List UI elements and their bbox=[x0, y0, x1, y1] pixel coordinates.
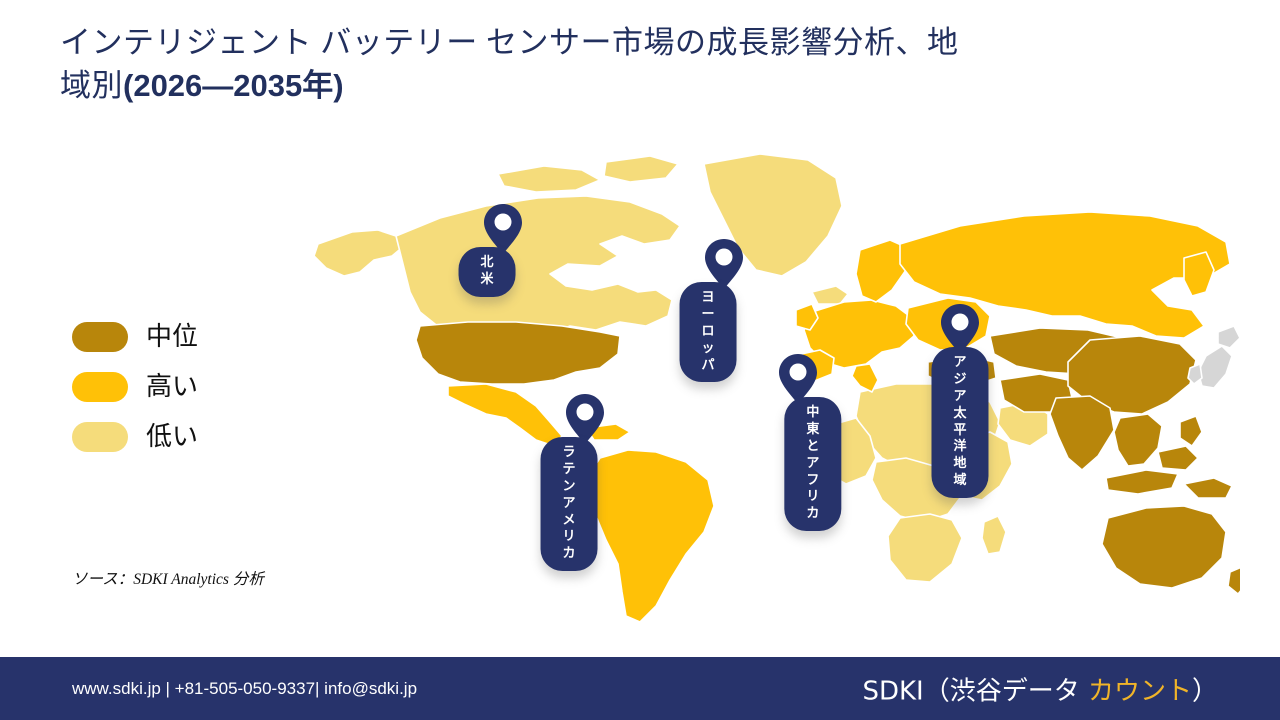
legend-label-low: 低い bbox=[146, 424, 198, 450]
region-iceland bbox=[812, 286, 848, 304]
footer-brand-accent: カウント bbox=[1088, 676, 1192, 706]
page-title-line2-plain: 域別 bbox=[60, 68, 123, 103]
world-map: 北米 ヨーロッパ アジア太平洋 地域 ラテンアメリカ 中東 とアフリカ bbox=[300, 140, 1240, 640]
region-australia[interactable] bbox=[1102, 506, 1226, 588]
region-new-guinea bbox=[1184, 478, 1232, 498]
page-title: インテリジェント バッテリー センサー市場の成長影響分析、地 域別(2026—2… bbox=[60, 22, 1200, 108]
region-southeast-asia[interactable] bbox=[1114, 414, 1162, 466]
footer-contact-info[interactable]: www.sdki.jp | +81-505-050-9337| info@sdk… bbox=[72, 679, 417, 699]
footer-brand-suffix: ） bbox=[1192, 676, 1218, 706]
map-pin-label-europe[interactable]: ヨーロッパ bbox=[680, 282, 737, 382]
legend-label-medium: 中位 bbox=[146, 324, 198, 350]
source-note: ソース：SDKI Analytics 分析 bbox=[72, 567, 264, 589]
map-pin-label-asia-pacific[interactable]: アジア太平洋 地域 bbox=[931, 347, 988, 498]
region-indonesia-2 bbox=[1158, 446, 1198, 470]
legend-swatch-high bbox=[72, 372, 128, 402]
region-alaska[interactable] bbox=[314, 230, 404, 276]
region-canada[interactable] bbox=[396, 196, 680, 338]
region-canada-arctic-1 bbox=[498, 166, 600, 192]
region-japan[interactable] bbox=[1198, 346, 1232, 388]
world-map-svg bbox=[300, 140, 1240, 640]
legend-swatch-low bbox=[72, 422, 128, 452]
region-madagascar bbox=[982, 516, 1006, 554]
region-usa[interactable] bbox=[416, 322, 620, 384]
region-mexico[interactable] bbox=[448, 384, 562, 446]
legend: 中位 高い 低い bbox=[72, 312, 282, 462]
region-philippines bbox=[1180, 416, 1202, 446]
region-japan-north bbox=[1218, 326, 1240, 348]
region-indonesia-1[interactable] bbox=[1106, 470, 1178, 494]
legend-item-medium[interactable]: 中位 bbox=[72, 312, 282, 362]
region-india[interactable] bbox=[1050, 396, 1114, 470]
map-pin-label-latin-america[interactable]: ラテンアメリカ bbox=[541, 437, 598, 571]
region-new-zealand bbox=[1228, 566, 1240, 594]
legend-swatch-medium bbox=[72, 322, 128, 352]
region-kamchatka bbox=[1184, 252, 1214, 296]
region-canada-arctic-2 bbox=[604, 156, 678, 182]
legend-item-high[interactable]: 高い bbox=[72, 362, 282, 412]
map-pin-label-north-america[interactable]: 北米 bbox=[459, 247, 516, 297]
map-pin-label-middle-east-africa[interactable]: 中東 とアフリカ bbox=[784, 397, 841, 531]
region-south-america[interactable] bbox=[590, 450, 714, 622]
region-southern-africa[interactable] bbox=[888, 514, 962, 582]
footer-brand: SDKI（渋谷データ カウント） bbox=[862, 670, 1218, 707]
legend-label-high: 高い bbox=[146, 374, 198, 400]
footer-brand-prefix: SDKI（渋谷データ bbox=[862, 676, 1088, 706]
page-title-line1: インテリジェント バッテリー センサー市場の成長影響分析、地 bbox=[60, 25, 959, 60]
region-italy bbox=[852, 364, 878, 392]
footer-bar: www.sdki.jp | +81-505-050-9337| info@sdk… bbox=[0, 657, 1280, 720]
page-title-period: (2026—2035年) bbox=[123, 68, 344, 103]
legend-item-low[interactable]: 低い bbox=[72, 412, 282, 462]
